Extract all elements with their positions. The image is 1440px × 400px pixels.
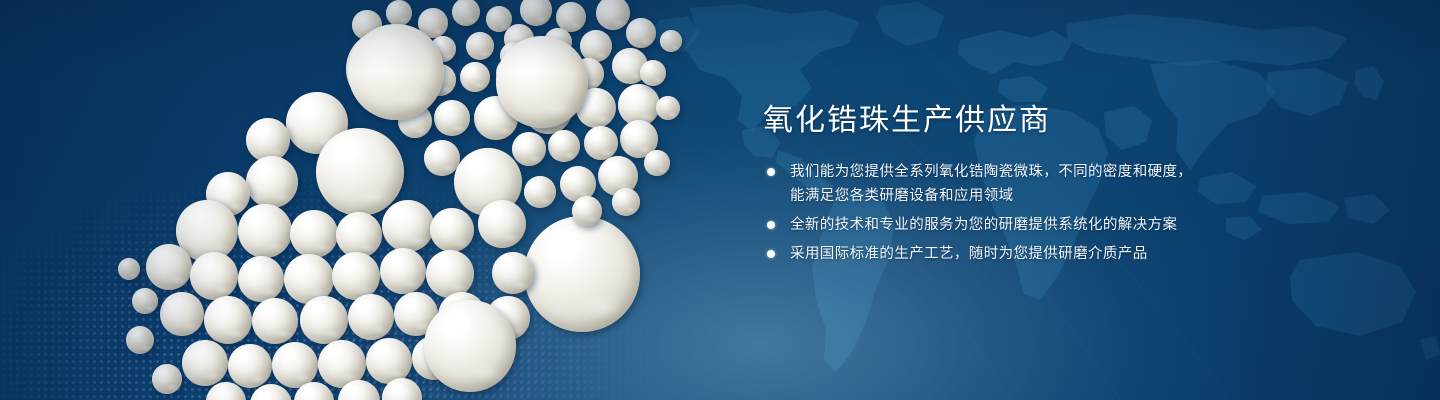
- list-item-line: 全新的技术和专业的服务为您的研磨提供系统化的解决方案: [790, 213, 1403, 237]
- list-item: 全新的技术和专业的服务为您的研磨提供系统化的解决方案: [763, 213, 1403, 237]
- list-item-line: 采用国际标准的生产工艺，随时为您提供研磨介质产品: [790, 242, 1403, 266]
- bullet-dot-icon: [767, 250, 775, 258]
- hero-banner: 氧化锆珠生产供应商 我们能为您提供全系列氧化锆陶瓷微珠，不同的密度和硬度， 能满…: [0, 0, 1440, 400]
- feature-list: 我们能为您提供全系列氧化锆陶瓷微珠，不同的密度和硬度， 能满足您各类研磨设备和应…: [763, 160, 1403, 266]
- bullet-dot-icon: [767, 168, 775, 176]
- banner-copy: 氧化锆珠生产供应商 我们能为您提供全系列氧化锆陶瓷微珠，不同的密度和硬度， 能满…: [763, 104, 1403, 271]
- list-item: 采用国际标准的生产工艺，随时为您提供研磨介质产品: [763, 242, 1403, 266]
- list-item-line: 能满足您各类研磨设备和应用领域: [790, 184, 1403, 208]
- list-item-line: 我们能为您提供全系列氧化锆陶瓷微珠，不同的密度和硬度，: [790, 160, 1403, 184]
- page-title: 氧化锆珠生产供应商: [763, 104, 1403, 138]
- list-item: 我们能为您提供全系列氧化锆陶瓷微珠，不同的密度和硬度， 能满足您各类研磨设备和应…: [763, 160, 1403, 208]
- bullet-dot-icon: [767, 221, 775, 229]
